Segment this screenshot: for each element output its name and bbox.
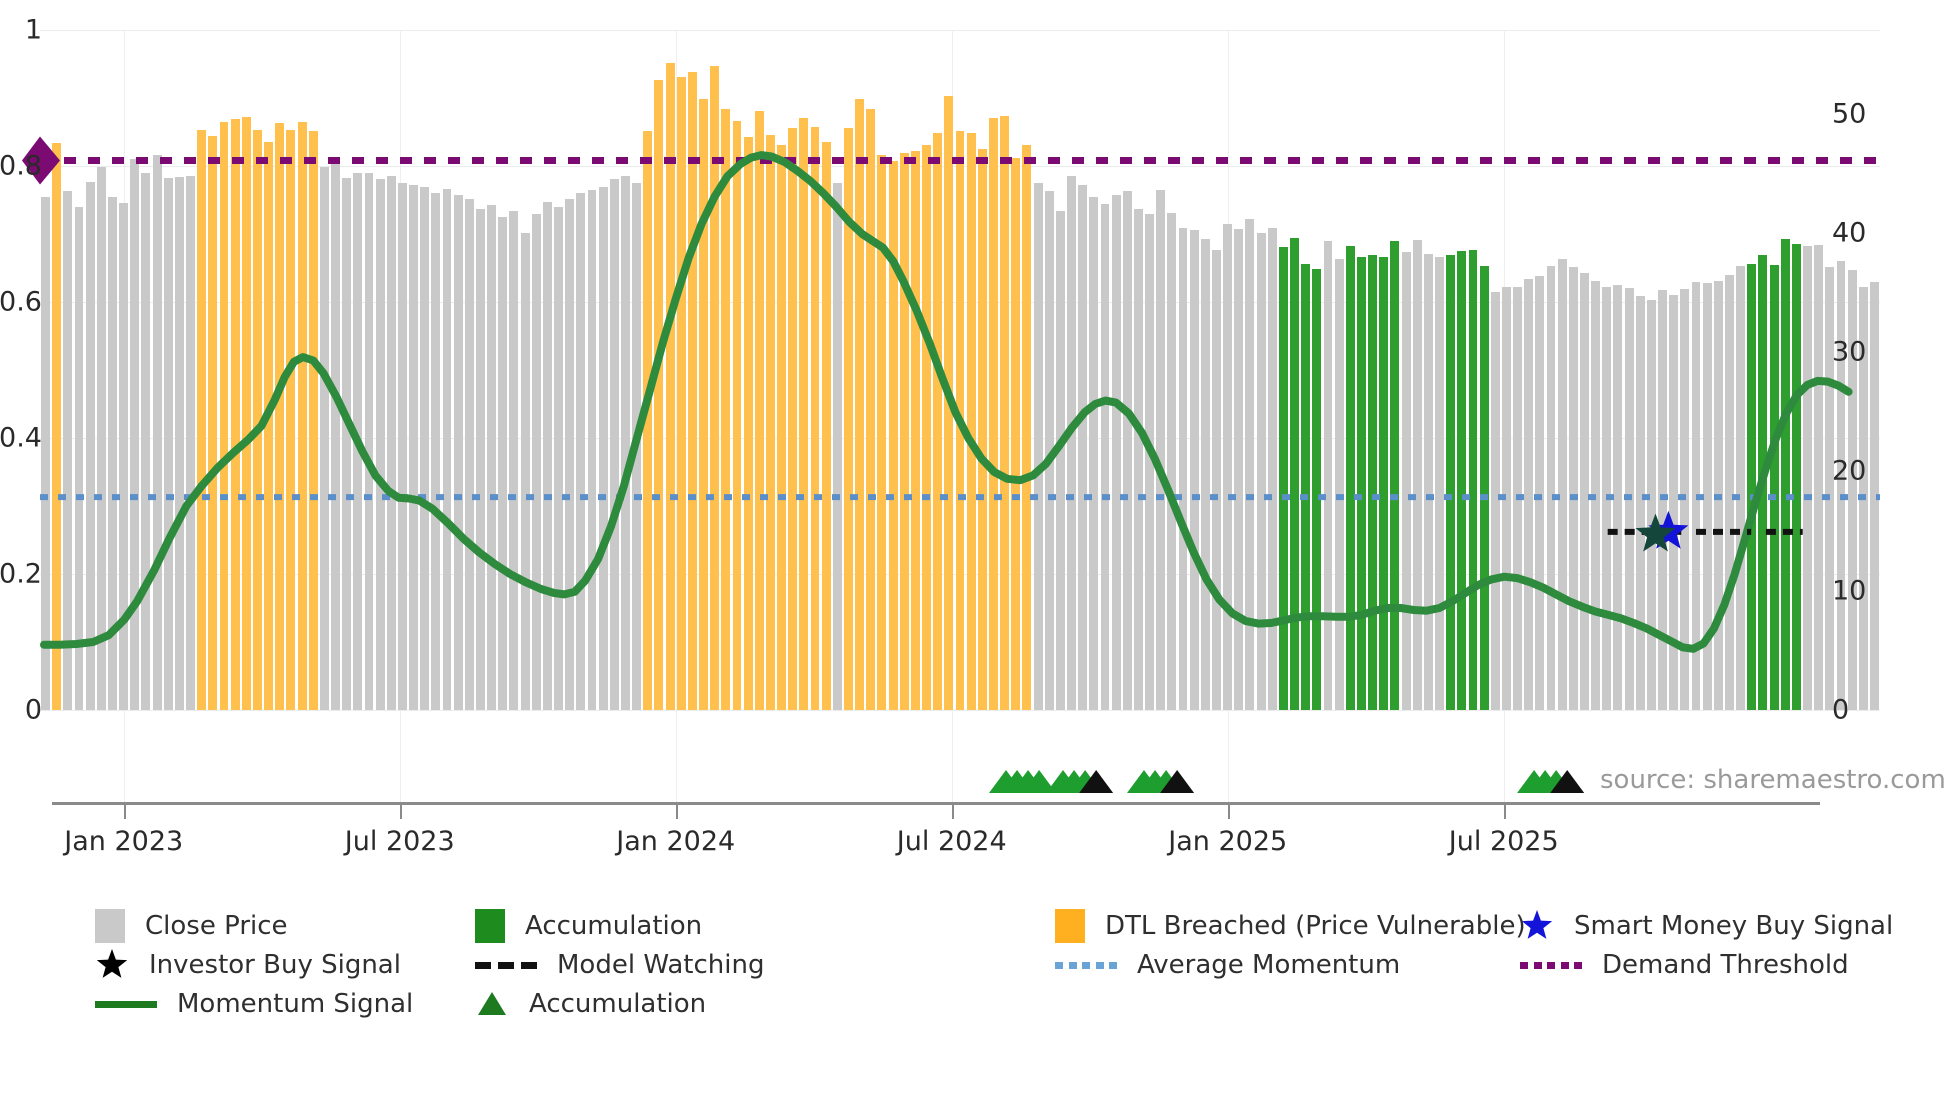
x-tick-label: Jul 2024 <box>897 826 1007 857</box>
y-left-tick-label: 0.2 <box>0 559 42 590</box>
legend-item-label: Accumulation <box>529 989 706 1019</box>
legend-dotted-line-icon <box>1055 962 1117 969</box>
legend-item[interactable]: Accumulation <box>475 905 702 947</box>
momentum-signal-line <box>44 155 1849 649</box>
legend-item-label: Demand Threshold <box>1602 950 1849 980</box>
accumulation-triangle-marker <box>989 770 1023 793</box>
y-left-tick-label: 0.6 <box>0 287 42 318</box>
accumulation-triangle-marker <box>1011 770 1045 793</box>
legend-square-icon <box>475 909 505 943</box>
accumulation-triangle-marker <box>1528 770 1562 793</box>
chart-root: 00.20.40.60.81 01020304050 Jan 2023Jul 2… <box>0 0 1960 1102</box>
accumulation-triangle-marker <box>1000 770 1034 793</box>
legend-item[interactable]: Close Price <box>95 905 288 947</box>
y-right-tick-label: 0 <box>1832 695 1849 726</box>
gridline-0 <box>40 710 1880 711</box>
legend-square-icon <box>95 909 125 943</box>
legend-star-icon <box>1520 909 1554 943</box>
legend-item-label: Investor Buy Signal <box>149 950 401 980</box>
legend-dashed-line-icon <box>475 962 537 969</box>
y-right-tick-label: 50 <box>1832 98 1866 129</box>
accumulation-triangle-marker <box>1068 770 1102 793</box>
legend-item[interactable]: DTL Breached (Price Vulnerable) <box>1055 905 1526 947</box>
legend-item-label: Average Momentum <box>1137 950 1400 980</box>
legend-item[interactable]: Average Momentum <box>1055 944 1400 986</box>
x-tick-mark <box>124 805 126 819</box>
y-right-tick-label: 30 <box>1832 337 1866 368</box>
y-right-tick-label: 20 <box>1832 456 1866 487</box>
x-axis-line <box>52 802 1820 805</box>
legend-item-label: Close Price <box>145 911 288 941</box>
legend-item[interactable]: Demand Threshold <box>1520 944 1849 986</box>
legend-item-label: Model Watching <box>557 950 764 980</box>
accumulation-triangle-marker <box>1149 770 1183 793</box>
legend-item-label: DTL Breached (Price Vulnerable) <box>1105 911 1526 941</box>
y-right-tick-label: 10 <box>1832 575 1866 606</box>
legend-triangle-icon <box>475 987 509 1021</box>
source-attribution: source: sharemaestro.com <box>1600 765 1946 795</box>
x-tick-label: Jul 2025 <box>1449 826 1559 857</box>
x-tick-label: Jan 2025 <box>1168 826 1287 857</box>
accumulation-triangle-marker <box>1046 770 1080 793</box>
legend-square-icon <box>1055 909 1085 943</box>
accumulation-triangle-marker <box>1057 770 1091 793</box>
x-tick-label: Jan 2023 <box>64 826 183 857</box>
y-left-tick-label: 1 <box>25 15 42 46</box>
x-tick-label: Jan 2024 <box>616 826 735 857</box>
x-tick-mark <box>952 805 954 819</box>
accumulation-triangle-marker <box>1539 770 1573 793</box>
x-tick-mark <box>1504 805 1506 819</box>
y-right-tick-label: 40 <box>1832 217 1866 248</box>
plot-area <box>40 30 1880 710</box>
legend-line-icon <box>95 1001 157 1008</box>
investor-buy-triangle-marker <box>1550 770 1584 793</box>
series-overlay <box>40 30 1880 710</box>
x-tick-label: Jul 2023 <box>345 826 455 857</box>
y-left-tick-label: 0 <box>25 695 42 726</box>
legend-item[interactable]: Investor Buy Signal <box>95 944 401 986</box>
accumulation-triangle-marker <box>1517 770 1551 793</box>
y-left-tick-label: 0.8 <box>0 151 42 182</box>
legend-item-label: Momentum Signal <box>177 989 413 1019</box>
legend-item[interactable]: Accumulation <box>475 983 706 1025</box>
legend-item[interactable]: Smart Money Buy Signal <box>1520 905 1893 947</box>
accumulation-triangle-marker <box>1138 770 1172 793</box>
x-tick-mark <box>1228 805 1230 819</box>
legend-star-icon <box>95 948 129 982</box>
investor-buy-triangle-marker <box>1160 770 1194 793</box>
legend-dotted-line-icon <box>1520 962 1582 969</box>
accumulation-triangle-marker <box>1127 770 1161 793</box>
y-left-tick-label: 0.4 <box>0 423 42 454</box>
x-tick-mark <box>676 805 678 819</box>
legend-item-label: Smart Money Buy Signal <box>1574 911 1893 941</box>
accumulation-triangle-marker <box>1022 770 1056 793</box>
investor-buy-triangle-marker <box>1079 770 1113 793</box>
x-tick-mark <box>400 805 402 819</box>
legend-item-label: Accumulation <box>525 911 702 941</box>
legend-item[interactable]: Momentum Signal <box>95 983 413 1025</box>
legend-item[interactable]: Model Watching <box>475 944 764 986</box>
